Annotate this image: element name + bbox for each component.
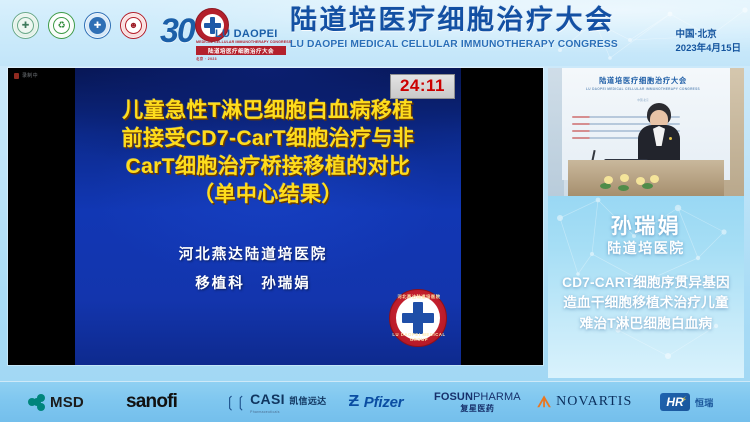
photo-backdrop-subtitle: LU DAOPEI MEDICAL CELLULAR IMMUNOTHERAPY… <box>568 87 718 91</box>
sponsor-bar: MSD sanofi ❲❲ CASI 凯信远达 Pharmaceuticals … <box>0 381 750 422</box>
hospital-cross-icon <box>402 302 434 334</box>
slide-title-line-2: 前接受CD7-CarT细胞治疗与非 <box>83 125 453 153</box>
presentation-slide: 24:11 儿童急性T淋巴细胞白血病移植 前接受CD7-CarT细胞治疗与非 C… <box>75 68 461 365</box>
msd-icon <box>28 394 45 411</box>
casi-wave-icon: ❲❲ <box>224 393 245 411</box>
portrait-seal-icon: ☻ <box>125 17 142 34</box>
accreditation-logo-1: ✚ <box>12 12 39 39</box>
photo-backdrop-meta: 中国·北京 <box>568 98 718 102</box>
speaker-topic: CD7-CART细胞序贯异基因 造血干细胞移植术治疗儿童 难治T淋巴细胞白血病 <box>552 273 740 334</box>
sponsor-sanofi-label: sanofi <box>126 391 177 413</box>
video-player[interactable]: 录制中 24:11 儿童急性T淋巴细胞白血病移植 前接受CD7-CarT细胞治疗… <box>8 68 543 365</box>
hengrui-spark-icon: ⚡ <box>681 395 687 404</box>
sponsor-pfizer[interactable]: Ƶ Pfizer <box>349 393 403 411</box>
slide-title: 儿童急性T淋巴细胞白血病移植 前接受CD7-CarT细胞治疗与非 CarT细胞治… <box>83 97 453 209</box>
sponsor-novartis[interactable]: ᗑ NOVARTIS <box>537 394 632 410</box>
recycle-icon: ♻ <box>53 17 70 34</box>
event-location: 中国·北京 <box>676 28 741 42</box>
sponsor-novartis-label: NOVARTIS <box>556 394 632 410</box>
emblem-brand-en-sub: MEDICAL CELLULAR IMMUNOTHERAPY CONGRESS <box>196 40 291 44</box>
sponsor-fosun-label-en-light: PHARMA <box>473 391 521 403</box>
podium-flowers <box>598 170 668 192</box>
speaker-name: 孙瑞娟 <box>548 210 744 240</box>
recording-label: 录制中 <box>22 72 38 79</box>
photo-backdrop-title: 陆道培医疗细胞治疗大会 <box>568 76 718 86</box>
pfizer-icon: Ƶ <box>349 393 360 411</box>
sponsor-casi[interactable]: ❲❲ CASI 凯信远达 Pharmaceuticals <box>224 391 326 414</box>
sponsor-hengrui-label-cn: 恒瑞 <box>695 396 714 409</box>
recording-indicator: 录制中 <box>14 72 38 79</box>
hospital-logo-text-top: 河北燕达陆道培医院 <box>390 294 448 300</box>
sponsor-msd-label: MSD <box>50 394 84 411</box>
page-subtitle: LU DAOPEI MEDICAL CELLULAR IMMUNOTHERAPY… <box>290 39 665 50</box>
speaker-info-panel: 陆道培医疗细胞治疗大会 LU DAOPEI MEDICAL CELLULAR I… <box>548 68 744 378</box>
sponsor-hengrui[interactable]: HR ⚡ 恒瑞 <box>660 393 714 411</box>
accreditation-logo-row: ✚ ♻ ✚ ☻ <box>12 12 147 39</box>
recycle-logo: ♻ <box>48 12 75 39</box>
speaker-lapel-pin <box>669 137 672 140</box>
emblem-brand-cn: 陆道培医疗细胞治疗大会 <box>196 46 286 55</box>
portrait-seal-logo: ☻ <box>120 12 147 39</box>
emblem-brand-en: LU DAOPEI <box>215 28 278 40</box>
sponsor-casi-label-cn: 凯信远达 <box>289 396 326 406</box>
medical-cross-icon: ✚ <box>89 17 106 34</box>
countdown-timer: 24:11 <box>390 74 455 99</box>
speaker-topic-line-1: CD7-CART细胞序贯异基因 <box>552 273 740 293</box>
conference-header: ✚ ♻ ✚ ☻ 30 LU DAOPEI MEDICAL CELLULAR IM… <box>0 0 750 66</box>
slide-department-presenter: 移植科 孙瑞娟 <box>83 277 423 292</box>
sponsor-fosun-label-en-bold: FOSUN <box>434 391 473 403</box>
sponsor-fosun-pharma[interactable]: FOSUNPHARMA 复星医药 <box>434 391 521 414</box>
slide-affiliation: 河北燕达陆道培医院 <box>83 248 423 263</box>
medical-cross-logo: ✚ <box>84 12 111 39</box>
event-date: 2023年4月15日 <box>676 42 741 56</box>
sponsor-sanofi[interactable]: sanofi <box>126 391 177 413</box>
speaker-photo: 陆道培医疗细胞治疗大会 LU DAOPEI MEDICAL CELLULAR I… <box>548 68 744 196</box>
slide-title-line-1: 儿童急性T淋巴细胞白血病移植 <box>83 97 453 125</box>
conference-emblem: 30 LU DAOPEI MEDICAL CELLULAR IMMUNOTHER… <box>160 6 288 62</box>
event-location-date: 中国·北京 2023年4月15日 <box>676 28 741 56</box>
record-dot-icon <box>14 73 19 79</box>
sponsor-fosun-label-cn: 复星医药 <box>460 403 494 414</box>
sponsor-msd[interactable]: MSD <box>28 394 84 411</box>
page-title: 陆道培医疗细胞治疗大会 <box>290 4 665 37</box>
speaker-topic-line-2: 造血干细胞移植术治疗儿童 <box>552 293 740 313</box>
header-title-zone: 陆道培医疗细胞治疗大会 LU DAOPEI MEDICAL CELLULAR I… <box>290 4 665 50</box>
hospital-logo: 河北燕达陆道培医院 LU DAOPEI MEDICAL GROUP <box>389 289 447 347</box>
emblem-brand-year: 北京 · 2023 <box>196 56 217 61</box>
hospital-logo-text-bottom: LU DAOPEI MEDICAL GROUP <box>390 332 448 342</box>
speaker-topic-line-3: 难治T淋巴细胞白血病 <box>552 314 740 334</box>
speaker-organization: 陆道培医院 <box>548 238 744 258</box>
sponsor-casi-label: CASI <box>250 391 285 407</box>
sponsor-pfizer-label: Pfizer <box>364 394 404 411</box>
slide-title-line-4: （单中心结果） <box>83 181 453 209</box>
slide-title-line-3: CarT细胞治疗桥接移植的对比 <box>83 153 453 181</box>
hengrui-icon: HR ⚡ <box>660 393 690 411</box>
accreditation-logo-1-icon: ✚ <box>17 17 34 34</box>
novartis-icon: ᗑ <box>537 395 551 410</box>
anniversary-number: 30 <box>160 14 194 48</box>
sponsor-casi-sub: Pharmaceuticals <box>250 410 326 414</box>
